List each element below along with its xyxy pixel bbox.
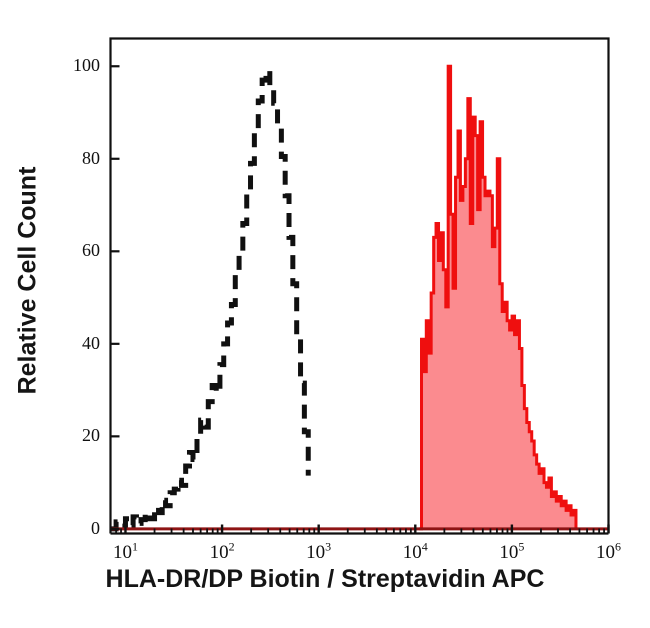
y-tick-label: 60 <box>48 240 100 261</box>
x-tick-label: 102 <box>192 542 252 564</box>
y-tick-label: 0 <box>48 518 100 539</box>
y-tick-label: 20 <box>48 425 100 446</box>
y-tick-label: 100 <box>48 55 100 76</box>
flow-cytometry-histogram-figure: Relative Cell Count HLA-DR/DP Biotin / S… <box>0 0 650 623</box>
x-tick-label: 105 <box>482 542 542 564</box>
y-axis-label: Relative Cell Count <box>14 166 43 394</box>
x-axis-label: HLA-DR/DP Biotin / Streptavidin APC <box>0 565 650 594</box>
y-tick-label: 80 <box>48 148 100 169</box>
x-tick-label: 101 <box>95 542 155 564</box>
x-tick-label: 103 <box>289 542 349 564</box>
y-axis-label-container: Relative Cell Count <box>0 0 56 560</box>
x-tick-label: 106 <box>579 542 639 564</box>
x-tick-label: 104 <box>385 542 445 564</box>
y-tick-label: 40 <box>48 333 100 354</box>
